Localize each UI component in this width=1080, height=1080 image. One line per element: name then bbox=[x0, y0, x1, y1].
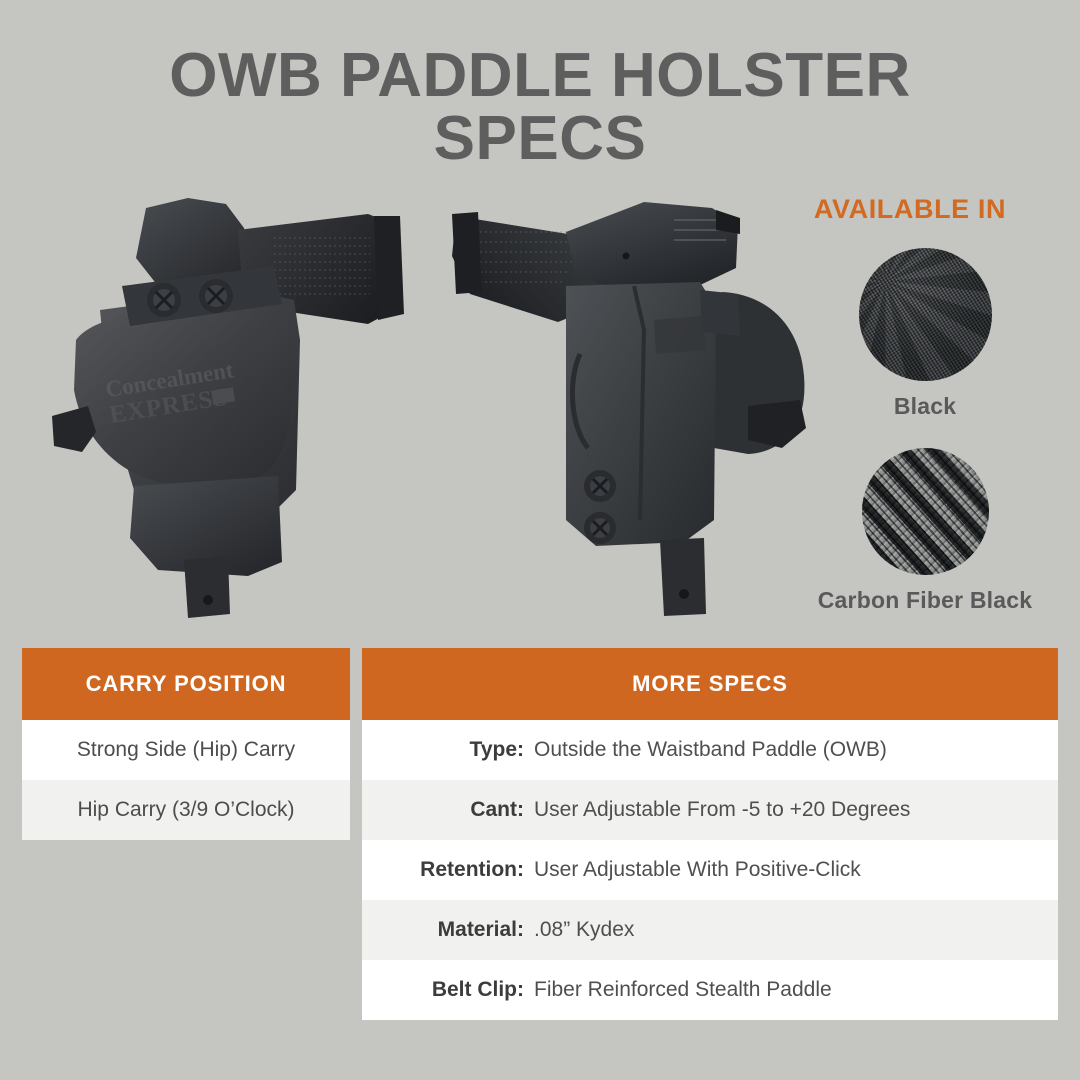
carry-position-value: Hip Carry (3/9 O’Clock) bbox=[77, 798, 294, 822]
belt-attachment-tab bbox=[184, 556, 230, 618]
table-row: Strong Side (Hip) Carry bbox=[22, 720, 350, 780]
tab-hole bbox=[679, 589, 689, 599]
spec-label: Cant: bbox=[390, 798, 534, 822]
carry-position-table: CARRY POSITION Strong Side (Hip) Carry H… bbox=[22, 648, 350, 840]
pistol-slide-shape bbox=[566, 202, 738, 290]
light-bezel-relief bbox=[654, 316, 706, 354]
spec-label: Material: bbox=[390, 918, 534, 942]
adjustment-screw-lower bbox=[199, 279, 233, 313]
page-title-line-2: SPECS bbox=[0, 107, 1080, 170]
spec-value: User Adjustable From -5 to +20 Degrees bbox=[534, 798, 910, 822]
adjustment-screw-lower bbox=[584, 512, 616, 544]
swatch-label: Black bbox=[775, 393, 1075, 420]
texture-swatch-icon bbox=[859, 248, 992, 381]
table-row: Hip Carry (3/9 O’Clock) bbox=[22, 780, 350, 840]
paddle-hook bbox=[52, 406, 96, 452]
spec-value: .08” Kydex bbox=[534, 918, 634, 942]
magazine-baseplate bbox=[374, 216, 404, 320]
page-title: OWB PADDLE HOLSTER SPECS bbox=[0, 44, 1080, 170]
carry-position-table-header: CARRY POSITION bbox=[22, 648, 350, 720]
adjustment-screw-upper bbox=[147, 283, 181, 317]
paddle-mount-block bbox=[700, 290, 740, 336]
spec-value: Fiber Reinforced Stealth Paddle bbox=[534, 978, 832, 1002]
takedown-pin bbox=[623, 253, 630, 260]
product-image-front-view bbox=[448, 190, 820, 620]
swatch-label: Carbon Fiber Black bbox=[775, 587, 1075, 614]
carry-position-value: Strong Side (Hip) Carry bbox=[77, 738, 295, 762]
swatch-option-black[interactable]: Black bbox=[775, 248, 1075, 420]
table-row: Material: .08” Kydex bbox=[362, 900, 1058, 960]
spec-label: Retention: bbox=[390, 858, 534, 882]
rear-sight bbox=[716, 210, 740, 234]
texture-swatch-icon bbox=[862, 448, 989, 575]
table-row: Type: Outside the Waistband Paddle (OWB) bbox=[362, 720, 1058, 780]
tab-hole bbox=[203, 595, 213, 605]
belt-attachment-tab bbox=[660, 538, 706, 616]
magazine-baseplate bbox=[452, 212, 482, 294]
spec-value: Outside the Waistband Paddle (OWB) bbox=[534, 738, 887, 762]
table-row: Cant: User Adjustable From -5 to +20 Deg… bbox=[362, 780, 1058, 840]
adjustment-screw-upper bbox=[584, 470, 616, 502]
spec-value: User Adjustable With Positive-Click bbox=[534, 858, 861, 882]
table-row: Belt Clip: Fiber Reinforced Stealth Padd… bbox=[362, 960, 1058, 1020]
more-specs-table: MORE SPECS Type: Outside the Waistband P… bbox=[362, 648, 1058, 1020]
spec-label: Belt Clip: bbox=[390, 978, 534, 1002]
spec-label: Type: bbox=[390, 738, 534, 762]
page-title-line-1: OWB PADDLE HOLSTER bbox=[169, 41, 911, 110]
available-in-heading: AVAILABLE IN bbox=[760, 194, 1060, 225]
table-row: Retention: User Adjustable With Positive… bbox=[362, 840, 1058, 900]
more-specs-table-header: MORE SPECS bbox=[362, 648, 1058, 720]
product-image-rear-view: Concealment EXPRESS bbox=[38, 190, 430, 620]
swatch-option-carbon-fiber-black[interactable]: Carbon Fiber Black bbox=[775, 448, 1075, 614]
